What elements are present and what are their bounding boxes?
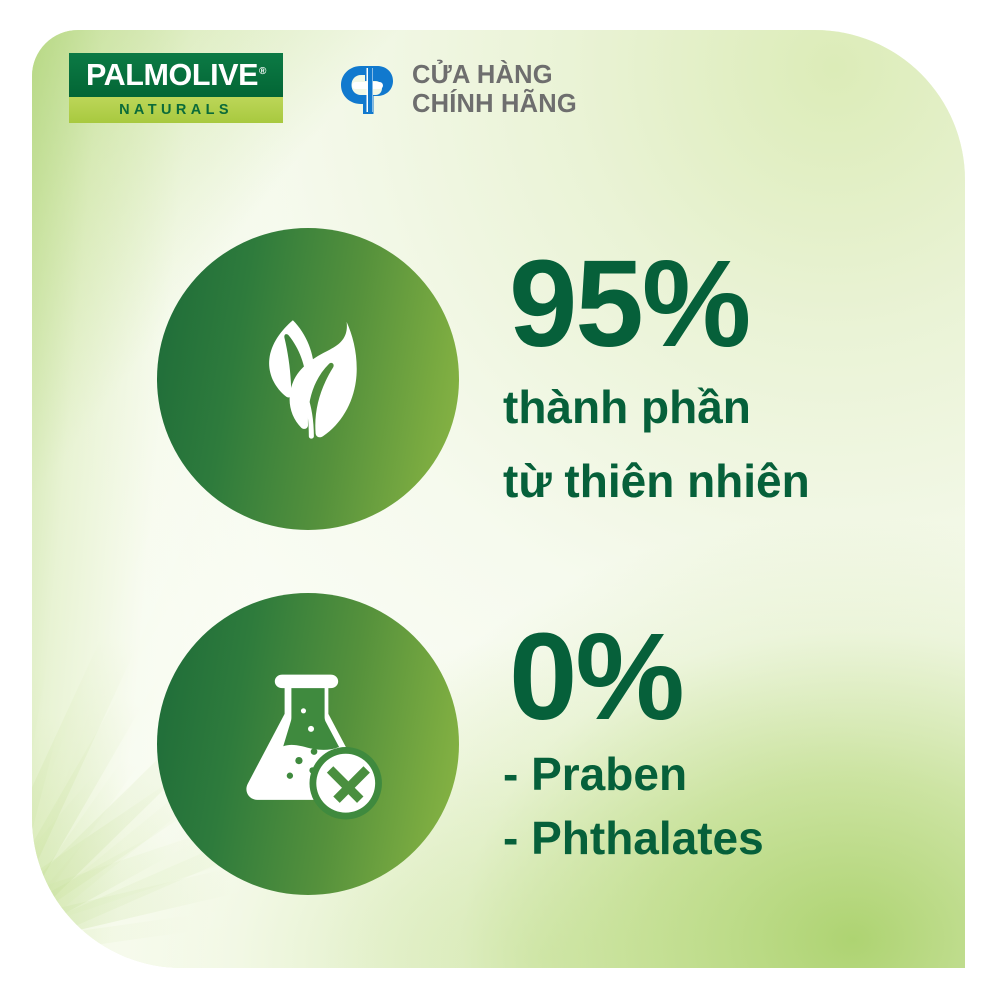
palmolive-logo: PALMOLIVE® NATURALS xyxy=(69,53,283,123)
flask-no-icon xyxy=(225,661,391,827)
authorized-store-text: CỬA HÀNG CHÍNH HÃNG xyxy=(412,61,577,119)
feature-headline: 0% xyxy=(509,620,764,737)
palmolive-wordmark: PALMOLIVE® xyxy=(86,60,266,91)
feature-copy: 95% thành phần từ thiên nhiên xyxy=(503,247,810,512)
feature-line-2: - Phthalates xyxy=(503,810,764,868)
feature-copy: 0% - Praben - Phthalates xyxy=(503,620,764,869)
feature-icon-circle xyxy=(157,593,459,895)
authorized-store-badge: CỬA HÀNG CHÍNH HÃNG xyxy=(339,61,577,119)
feature-icon-circle xyxy=(157,228,459,530)
feature-line-1: - Praben xyxy=(503,746,764,804)
palmolive-wordmark-block: PALMOLIVE® xyxy=(69,53,283,97)
registered-trademark-icon: ® xyxy=(259,66,266,77)
feature-line-2: từ thiên nhiên xyxy=(503,453,810,511)
promo-banner: PALMOLIVE® NATURALS CỬA HÀNG CHÍNH HÃNG xyxy=(32,30,965,968)
feature-free-from: 0% - Praben - Phthalates xyxy=(157,593,764,895)
feature-line-1: thành phần xyxy=(503,379,810,437)
sprout-leaf-icon xyxy=(224,295,392,463)
feature-natural-ingredients: 95% thành phần từ thiên nhiên xyxy=(157,228,810,530)
cp-logo-icon xyxy=(339,64,395,116)
palmolive-tagline: NATURALS xyxy=(119,103,233,118)
palmolive-tagline-block: NATURALS xyxy=(69,97,283,123)
feature-headline: 95% xyxy=(509,247,810,364)
header-logos: PALMOLIVE® NATURALS CỬA HÀNG CHÍNH HÃNG xyxy=(69,53,577,123)
